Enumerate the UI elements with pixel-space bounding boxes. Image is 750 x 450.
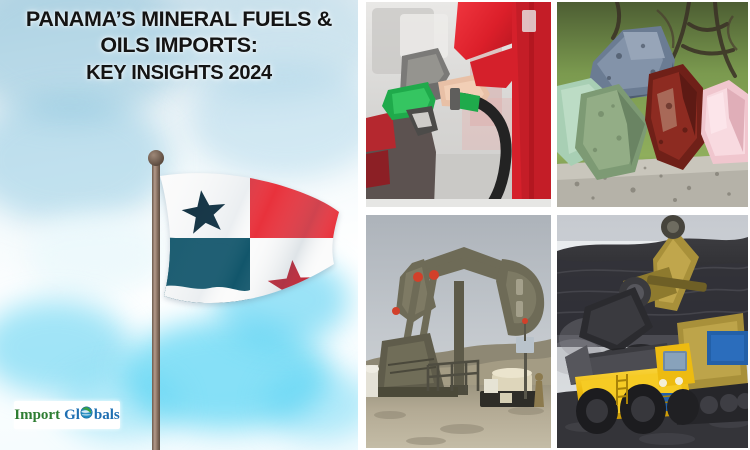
oil-pumpjack-photo [366,215,551,448]
title-line-1: PANAMA’S MINERAL FUELS & [0,6,358,32]
logo-text-import: Import [14,408,60,423]
panama-flag [158,168,341,313]
sky-cloud [0,95,170,225]
globe-icon [80,406,93,424]
logo-text-bals: bals [94,408,120,423]
banner-root: PANAMA’S MINERAL FUELS & OILS IMPORTS: K… [0,0,750,450]
flagpole-finial [148,150,164,166]
page-title: PANAMA’S MINERAL FUELS & OILS IMPORTS: K… [0,6,358,86]
mining-truck-photo [557,215,748,448]
import-globals-logo[interactable]: Import Gl bals [14,401,120,429]
mineral-rocks-photo [557,2,748,207]
sky-cloud [0,300,130,395]
panama-flag-hero: PANAMA’S MINERAL FUELS & OILS IMPORTS: K… [0,0,358,450]
logo-text-gl: Gl [64,408,80,423]
title-line-2: OILS IMPORTS: [0,32,358,58]
sky-cloud [265,370,358,440]
title-line-3: KEY INSIGHTS 2024 [0,61,358,85]
sky-cloud [25,215,165,295]
fuel-pump-photo [366,2,551,207]
